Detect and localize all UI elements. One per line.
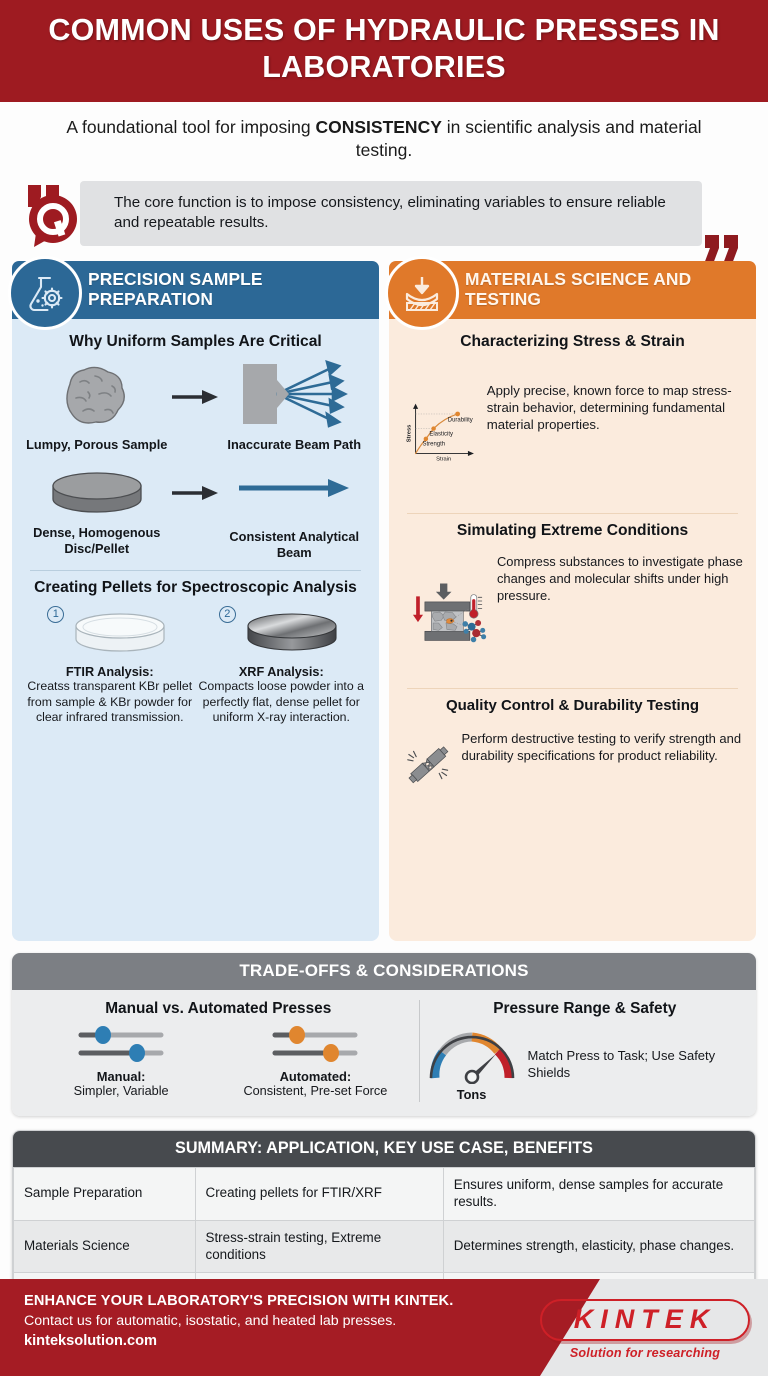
panel-right-header: MATERIALS SCIENCE AND TESTING (389, 261, 756, 319)
kintek-logo-wordmark: KINTEK (540, 1299, 750, 1341)
infographic-page: COMMON USES OF HYDRAULIC PRESSES IN LABO… (0, 0, 768, 1376)
panel-left-title: PRECISION SAMPLE PREPARATION (88, 270, 379, 309)
slider-orange-icon (269, 1026, 361, 1064)
manual-caption: Manual: (32, 1069, 211, 1084)
summary-application-1: Materials Science (14, 1220, 196, 1273)
summary-usecase-1: Stress-strain testing, Extreme condition… (195, 1220, 443, 1273)
panel-precision-sample-preparation: PRECISION SAMPLE PREPARATION Why Uniform… (12, 261, 379, 941)
arrow-right-dark-icon-2 (170, 466, 222, 507)
summary-application-0: Sample Preparation (14, 1167, 196, 1220)
right-section3-title: Quality Control & Durability Testing (401, 697, 744, 715)
extreme-conditions-row: Compress substances to investigate phase… (401, 546, 744, 678)
dense-pellet-disc-icon (42, 466, 152, 520)
gauge-row: Tons Match Press to Task; Use Safety Shi… (426, 1026, 744, 1102)
lumpy-sample-caption: Lumpy, Porous Sample (24, 437, 170, 453)
stress-strain-text: Apply precise, known force to map stress… (487, 358, 744, 433)
xrf-text: Compacts loose powder into a perfectly f… (198, 679, 366, 725)
panel-left-header: PRECISION SAMPLE PREPARATION (12, 261, 379, 319)
page-title: COMMON USES OF HYDRAULIC PRESSES IN LABO… (40, 12, 728, 86)
manual-vs-automated-block: Manual vs. Automated Presses Manual: Sim (18, 1000, 420, 1102)
slider-pair: Manual: Simpler, Variable Automated: (24, 1026, 413, 1098)
extreme-conditions-icons (401, 546, 491, 678)
right-divider-2 (407, 688, 738, 689)
thermometer-icon (469, 595, 481, 619)
kintek-logo-tagline: Solution for researching (540, 1346, 750, 1360)
pellet-number-2: 2 (219, 606, 236, 623)
left-row-1: Lumpy, Porous Sample (24, 358, 367, 453)
left-section1-title: Why Uniform Samples Are Critical (24, 333, 367, 352)
right-divider-1 (407, 513, 738, 514)
quote-q-icon (22, 175, 84, 249)
tradeoffs-header: TRADE-OFFS & CONSIDERATIONS (12, 953, 756, 990)
summary-benefit-0: Ensures uniform, dense samples for accur… (443, 1167, 754, 1220)
svg-text:Strength: Strength (422, 441, 445, 447)
summary-header: SUMMARY: APPLICATION, KEY USE CASE, BENE… (13, 1131, 755, 1167)
ftir-text: Creatss transparent KBr pellet from samp… (26, 679, 194, 725)
metallic-xrf-pellet-icon (240, 606, 344, 660)
table-row: Materials Science Stress-strain testing,… (14, 1220, 755, 1273)
fractured-specimen-icon (401, 721, 455, 809)
pellet-item-ftir: 1 FTIR Analysis: Creatss transparent KBr… (24, 606, 196, 725)
press-down-arrow-icon (385, 256, 459, 330)
panel-left-body: Why Uniform Samples Are Critical Lum (12, 319, 379, 941)
pressure-gauge-icon (426, 1026, 518, 1084)
left-row-2: Dense, Homogenous Disc/Pellet Co (24, 466, 367, 560)
panel-right-body: Characterizing Stress & Strain (389, 319, 756, 941)
pressure-range-block: Pressure Range & Safety (420, 1000, 750, 1102)
pellet-items: 1 FTIR Analysis: Creatss transparent KBr… (24, 606, 367, 725)
dense-pellet-caption: Dense, Homogenous Disc/Pellet (24, 525, 170, 556)
extreme-conditions-text: Compress substances to investigate phase… (497, 546, 744, 604)
left-divider (30, 570, 361, 571)
right-section2-title: Simulating Extreme Conditions (401, 522, 744, 541)
quote-block: The core function is to impose consisten… (22, 175, 750, 253)
tradeoffs-body: Manual vs. Automated Presses Manual: Sim (12, 990, 756, 1116)
inaccurate-beam-cell: Inaccurate Beam Path (222, 358, 368, 453)
pressure-range-title: Pressure Range & Safety (426, 1000, 744, 1018)
manual-text: Simpler, Variable (32, 1084, 211, 1098)
quality-control-text: Perform destructive testing to verify st… (461, 721, 744, 765)
tradeoffs-section: TRADE-OFFS & CONSIDERATIONS Manual vs. A… (12, 953, 756, 1116)
footer-banner: ENHANCE YOUR LABORATORY'S PRECISION WITH… (0, 1279, 768, 1376)
svg-text:Elasticity: Elasticity (429, 431, 453, 437)
straight-beam-arrow-icon (235, 470, 353, 524)
scattered-beam-icon (235, 358, 353, 432)
xrf-caption: XRF Analysis: (198, 665, 366, 679)
gauge-label: Tons (426, 1087, 518, 1102)
panel-materials-science-testing: MATERIALS SCIENCE AND TESTING Characteri… (389, 261, 756, 941)
lumpy-sample-cell: Lumpy, Porous Sample (24, 358, 170, 453)
ftir-caption: FTIR Analysis: (26, 665, 194, 679)
svg-text:Durability: Durability (448, 417, 473, 423)
footer-line-2: Contact us for automatic, isostatic, and… (24, 1313, 453, 1329)
dense-pellet-cell: Dense, Homogenous Disc/Pellet (24, 466, 170, 556)
automated-caption: Automated: (226, 1069, 405, 1084)
table-row: Sample Preparation Creating pellets for … (14, 1167, 755, 1220)
intro-emphasis: CONSISTENCY (315, 117, 441, 137)
manual-vs-automated-title: Manual vs. Automated Presses (24, 1000, 413, 1018)
panels-row: PRECISION SAMPLE PREPARATION Why Uniform… (0, 253, 768, 941)
quality-control-row: Perform destructive testing to verify st… (401, 721, 744, 809)
pellet-number-1: 1 (47, 606, 64, 623)
transparent-kbr-pellet-icon (68, 606, 172, 660)
left-section2-title: Creating Pellets for Spectroscopic Analy… (24, 579, 367, 598)
pressure-range-text: Match Press to Task; Use Safety Shields (528, 1047, 744, 1081)
manual-press-item: Manual: Simpler, Variable (32, 1026, 211, 1098)
footer-text: ENHANCE YOUR LABORATORY'S PRECISION WITH… (24, 1293, 453, 1349)
footer-website-link[interactable]: kinteksolution.com (24, 1333, 453, 1349)
automated-press-item: Automated: Consistent, Pre-set Force (226, 1026, 405, 1098)
consistent-beam-cell: Consistent Analytical Beam (222, 466, 368, 560)
intro-part1: A foundational tool for imposing (66, 117, 315, 137)
summary-benefit-1: Determines strength, elasticity, phase c… (443, 1220, 754, 1273)
svg-text:Stress: Stress (406, 424, 412, 442)
arrow-right-dark-icon (170, 358, 222, 411)
rough-rock-sample-icon (50, 358, 144, 432)
flask-gear-icon (8, 256, 82, 330)
automated-text: Consistent, Pre-set Force (226, 1084, 405, 1098)
summary-usecase-0: Creating pellets for FTIR/XRF (195, 1167, 443, 1220)
svg-text:Strain: Strain (436, 456, 451, 462)
panel-right-title: MATERIALS SCIENCE AND TESTING (465, 270, 756, 309)
stress-strain-chart: Durability Elasticity Strength Strain St… (401, 358, 481, 503)
stress-strain-figure-row: Durability Elasticity Strength Strain St… (401, 358, 744, 503)
right-section1-title: Characterizing Stress & Strain (401, 333, 744, 352)
inaccurate-beam-caption: Inaccurate Beam Path (222, 437, 368, 453)
top-banner: COMMON USES OF HYDRAULIC PRESSES IN LABO… (0, 0, 768, 102)
quote-text: The core function is to impose consisten… (80, 181, 702, 246)
pellet-item-xrf: 2 (196, 606, 368, 725)
kintek-logo: KINTEK Solution for researching (540, 1299, 750, 1360)
footer-line-1: ENHANCE YOUR LABORATORY'S PRECISION WITH… (24, 1293, 453, 1309)
intro-text: A foundational tool for imposing CONSIST… (0, 102, 768, 162)
consistent-beam-caption: Consistent Analytical Beam (222, 529, 368, 560)
slider-blue-icon (75, 1026, 167, 1064)
